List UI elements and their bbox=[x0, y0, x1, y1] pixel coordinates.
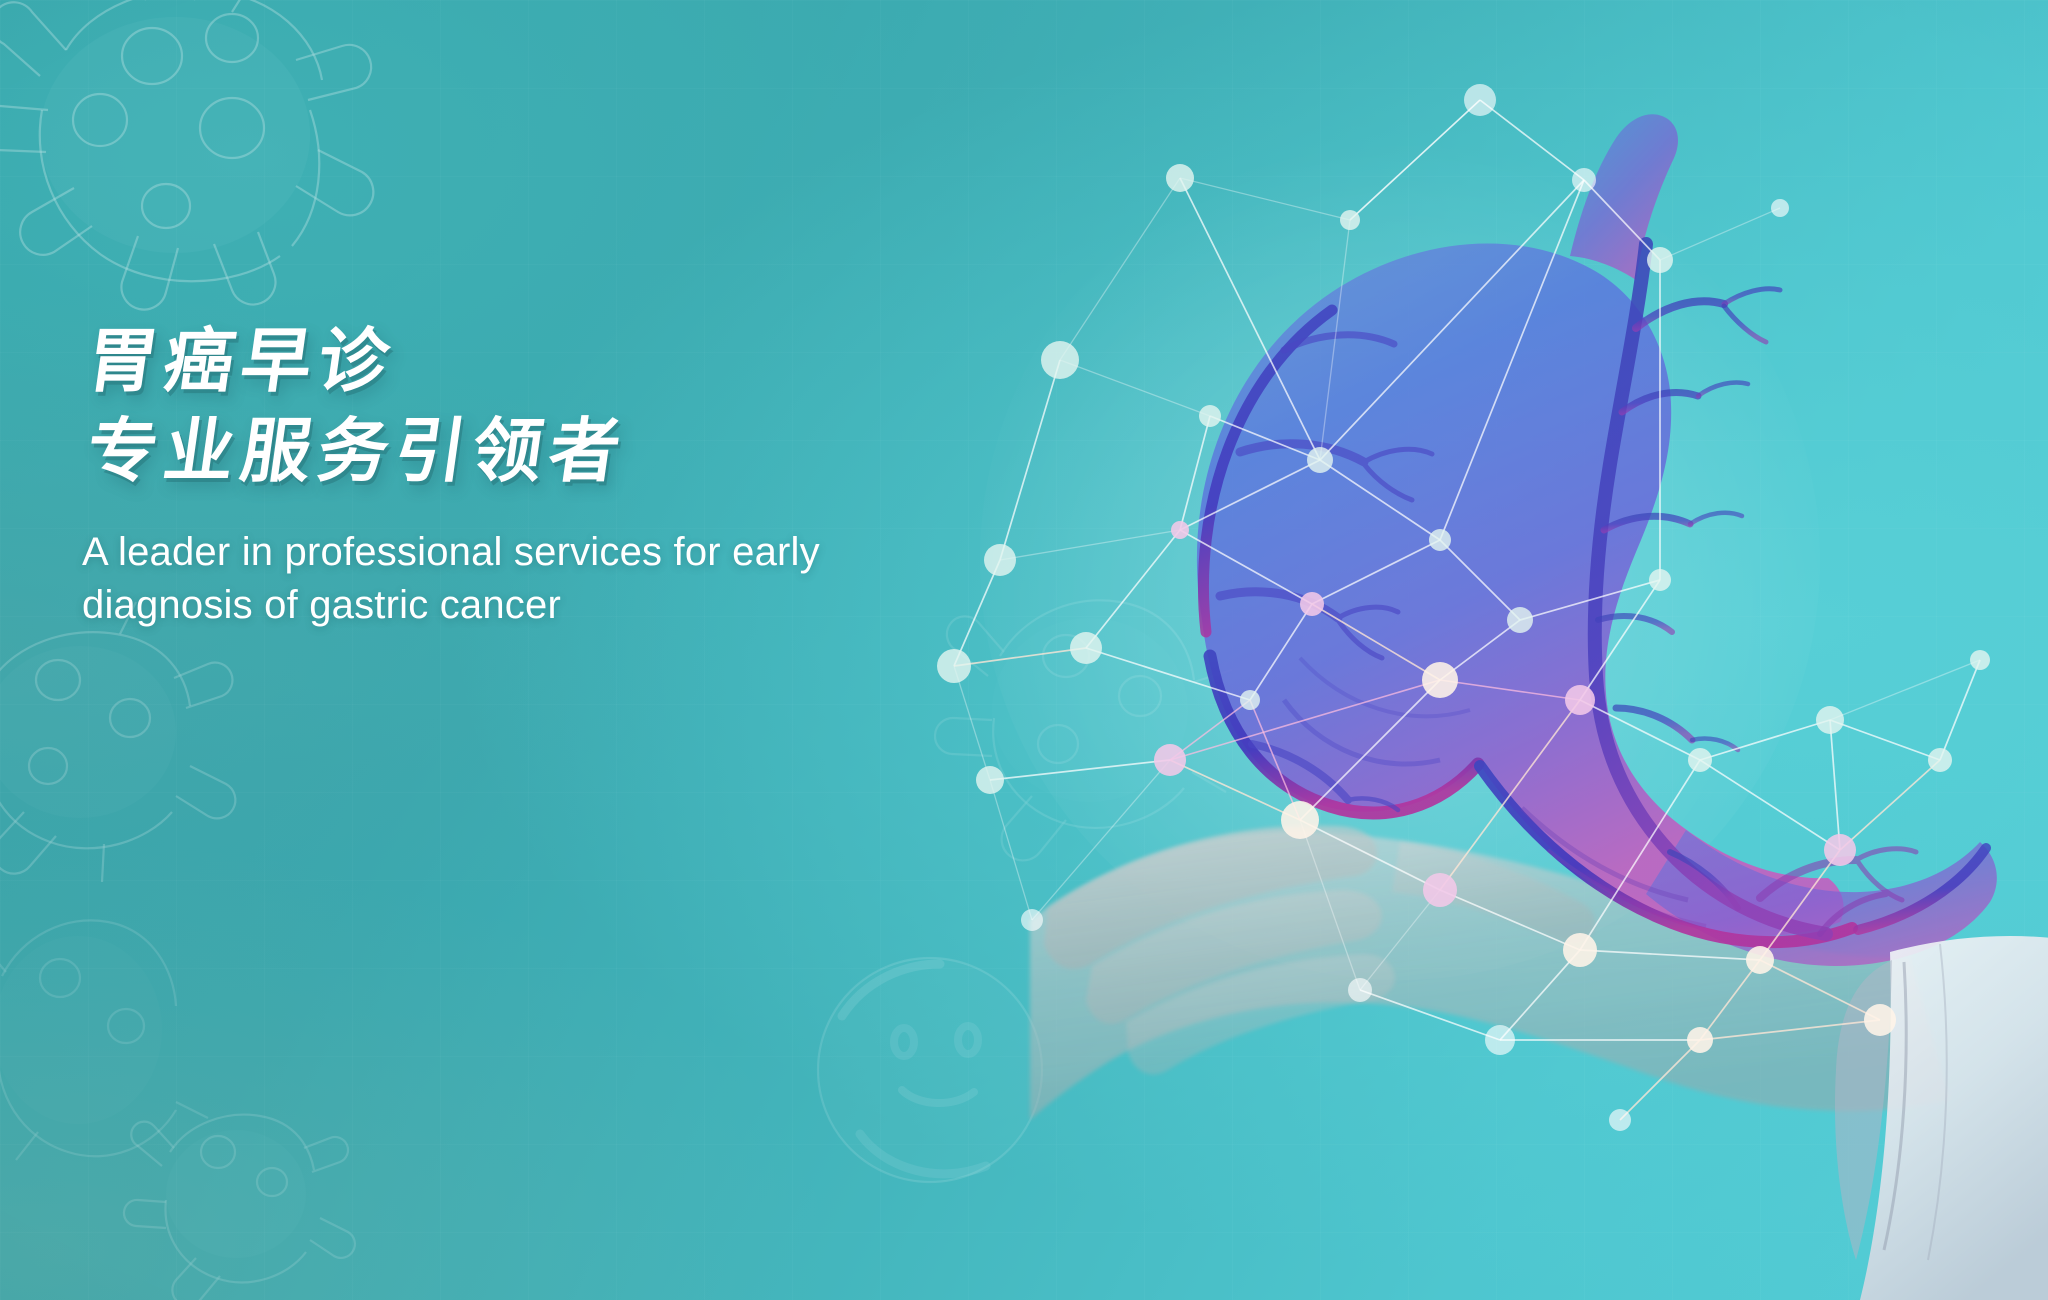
headline-block: 胃癌早诊 专业服务引领者 A leader in professional se… bbox=[82, 322, 982, 632]
headline-line-2: 专业服务引领者 bbox=[82, 412, 993, 490]
headline-line-1: 胃癌早诊 bbox=[82, 322, 993, 400]
virus-particle-icon-leftlower bbox=[0, 880, 220, 1180]
virus-particle-icon-topleft bbox=[0, 0, 390, 320]
stomach-artwork bbox=[880, 60, 2048, 1300]
subtitle-line-2: diagnosis of gastric cancer bbox=[82, 579, 872, 632]
subtitle-line-1: A leader in professional services for ea… bbox=[82, 526, 872, 579]
hero-banner: 胃癌早诊 专业服务引领者 A leader in professional se… bbox=[0, 0, 2048, 1300]
subtitle-block: A leader in professional services for ea… bbox=[82, 526, 872, 632]
virus-particle-icon-midleft bbox=[0, 600, 240, 880]
lab-coat-cuff bbox=[1835, 936, 2048, 1300]
